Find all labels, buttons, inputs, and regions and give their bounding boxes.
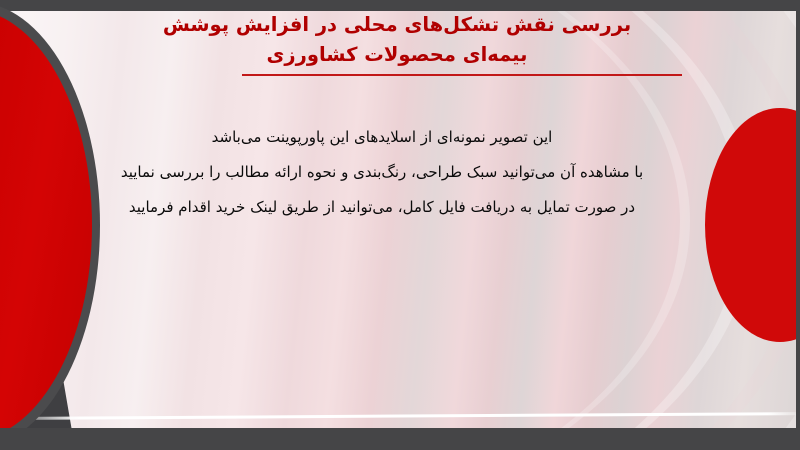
body-line-3: در صورت تمایل به دریافت فایل کامل، می‌تو… — [82, 190, 682, 225]
slide-body-text: این تصویر نمونه‌ای از اسلایدهای این پاور… — [82, 120, 682, 225]
title-line-1: بررسی نقش تشکل‌های محلی در افزایش پوشش — [112, 10, 682, 40]
body-line-1: این تصویر نمونه‌ای از اسلایدهای این پاور… — [82, 120, 682, 155]
slide-title: بررسی نقش تشکل‌های محلی در افزایش پوشش ب… — [112, 10, 682, 70]
slide-right-border — [796, 0, 800, 450]
presentation-slide: بررسی نقش تشکل‌های محلی در افزایش پوشش ب… — [0, 0, 800, 450]
body-line-2: با مشاهده آن می‌توانید سبک طراحی، رنگ‌بن… — [82, 155, 682, 190]
slide-bottom-border — [0, 428, 800, 450]
title-line-2: بیمه‌ای محصولات کشاورزی — [112, 40, 682, 70]
title-underline-rule — [242, 74, 682, 76]
